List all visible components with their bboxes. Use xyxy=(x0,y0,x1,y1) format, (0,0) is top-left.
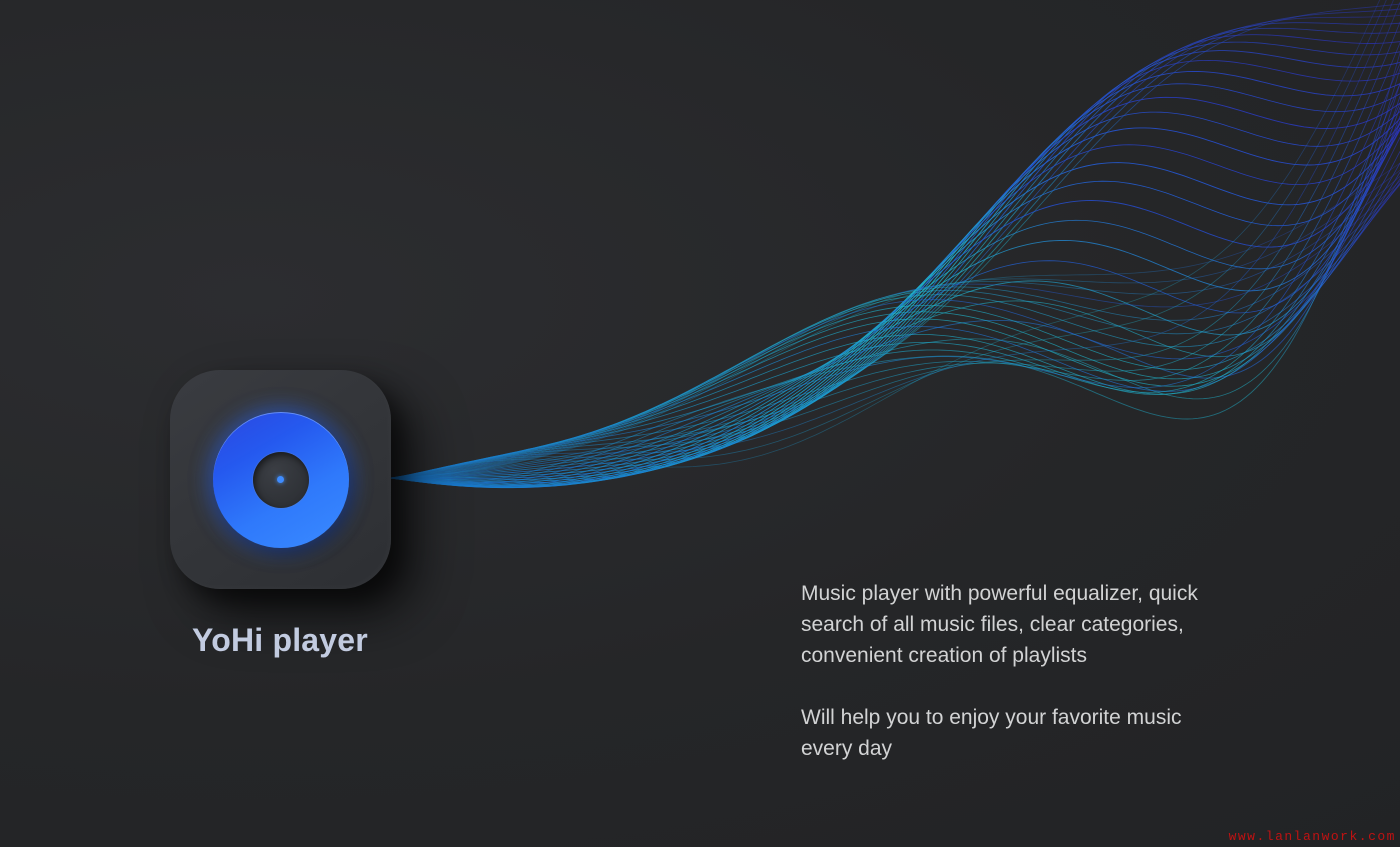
app-title: YoHi player xyxy=(0,622,560,659)
watermark: www.lanlanwork.com xyxy=(1229,829,1396,844)
wave-line xyxy=(390,16,1400,479)
wave-line xyxy=(390,51,1400,479)
wave-line xyxy=(390,84,1400,485)
app-icon[interactable] xyxy=(170,370,391,589)
wave-line xyxy=(390,123,1400,487)
wave-line xyxy=(390,112,1400,485)
wave-line xyxy=(390,97,1400,483)
description-block: Music player with powerful equalizer, qu… xyxy=(801,578,1231,764)
record-hub xyxy=(253,452,309,508)
wave-line xyxy=(390,119,1400,486)
wave-line xyxy=(390,2,1400,478)
wave-line xyxy=(390,60,1400,478)
wave-line xyxy=(390,28,1400,478)
wave-line xyxy=(390,84,1400,482)
wave-line xyxy=(390,4,1400,478)
wave-line xyxy=(390,9,1400,478)
wave-line xyxy=(390,35,1400,478)
wave-line xyxy=(390,0,1400,478)
wave-line xyxy=(390,116,1400,487)
wave-line xyxy=(390,69,1400,483)
record-spindle-dot xyxy=(277,476,284,483)
wave-line xyxy=(390,23,1400,478)
description-paragraph-2: Will help you to enjoy your favorite mus… xyxy=(801,702,1231,764)
wave-line xyxy=(390,43,1400,478)
wave-line xyxy=(390,170,1400,478)
wave-line xyxy=(390,0,1400,478)
vinyl-record-icon xyxy=(213,412,349,548)
wave-line xyxy=(390,53,1400,482)
wave-line xyxy=(390,84,1400,478)
app-promo-screen: YoHi player Music player with powerful e… xyxy=(0,0,1400,847)
wave-line xyxy=(390,22,1400,478)
wave-line xyxy=(390,42,1400,478)
wave-line xyxy=(390,183,1400,478)
wave-line xyxy=(390,0,1400,478)
description-paragraph-1: Music player with powerful equalizer, qu… xyxy=(801,578,1231,671)
wave-line xyxy=(390,151,1400,478)
